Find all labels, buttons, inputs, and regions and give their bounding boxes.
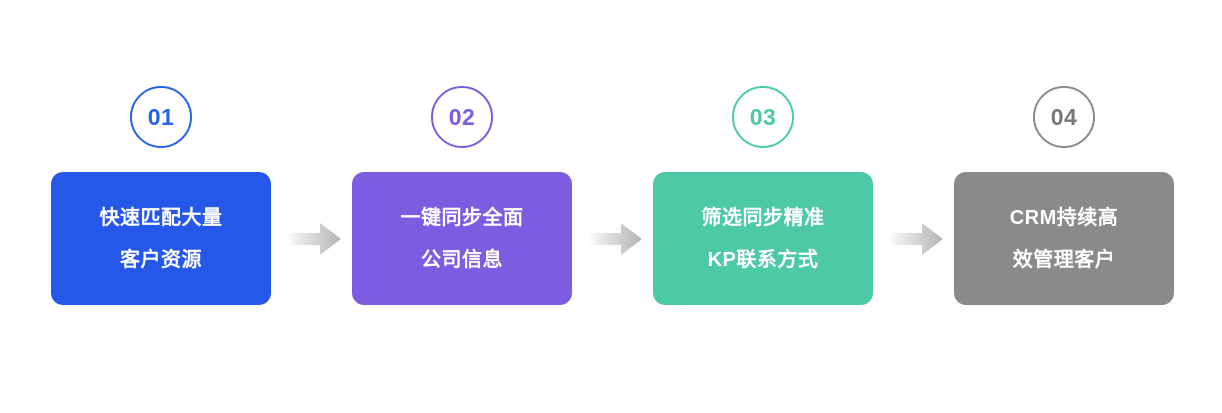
process-flow-diagram: 01 快速匹配大量 客户资源 02 一键同步全面 公司 [0,0,1222,413]
process-step-4: 04 CRM持续高 效管理客户 [954,86,1174,305]
card-text-line: 一键同步全面 [401,197,524,239]
step-number-label: 01 [148,106,175,129]
flow-connector-2 [588,222,642,256]
arrow-right-icon [588,222,642,256]
flow-connector-3 [889,222,943,256]
card-text-line: CRM持续高 [1010,197,1119,239]
step-number-badge-2: 02 [431,86,493,148]
arrow-right-icon [889,222,943,256]
process-step-1: 01 快速匹配大量 客户资源 [51,86,271,305]
step-number-badge-1: 01 [130,86,192,148]
process-step-card-2[interactable]: 一键同步全面 公司信息 [352,172,572,305]
process-step-3: 03 筛选同步精准 KP联系方式 [653,86,873,305]
card-text-line: KP联系方式 [708,239,819,281]
process-step-card-3[interactable]: 筛选同步精准 KP联系方式 [653,172,873,305]
flow-connector-1 [287,222,341,256]
card-text-line: 公司信息 [421,239,503,281]
card-text-line: 客户资源 [120,239,202,281]
step-number-badge-4: 04 [1033,86,1095,148]
step-number-label: 04 [1051,106,1078,129]
step-number-label: 03 [750,106,777,129]
card-text-line: 效管理客户 [1013,239,1116,281]
process-step-card-4[interactable]: CRM持续高 效管理客户 [954,172,1174,305]
step-number-label: 02 [449,106,476,129]
card-text-line: 快速匹配大量 [100,197,223,239]
process-step-2: 02 一键同步全面 公司信息 [352,86,572,305]
process-step-card-1[interactable]: 快速匹配大量 客户资源 [51,172,271,305]
arrow-right-icon [287,222,341,256]
card-text-line: 筛选同步精准 [702,197,825,239]
step-number-badge-3: 03 [732,86,794,148]
